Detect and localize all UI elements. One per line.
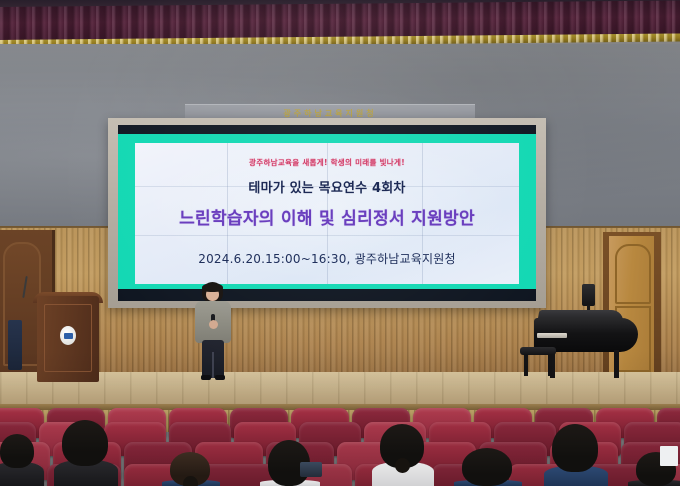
bench-leg-right xyxy=(548,354,552,376)
presenter-leg-gap xyxy=(212,352,214,378)
slide-title: 느린학습자의 이해 및 심리정서 지원방안 xyxy=(179,204,475,229)
slide-content: 광주하남교육을 새롭게! 학생의 미래를 빛나게! 테마가 있는 목요연수 4회… xyxy=(135,143,519,284)
piano-keyboard xyxy=(537,333,567,338)
screen-letterbox-bottom xyxy=(118,289,536,301)
presenter-shoe-left xyxy=(201,375,211,380)
audience-member-head xyxy=(0,434,34,468)
audience-member-head xyxy=(62,420,108,466)
presenter-hands xyxy=(209,320,218,329)
grand-piano xyxy=(528,300,658,380)
audience-member-head xyxy=(462,448,512,486)
audience-member-head xyxy=(552,424,598,472)
door-panel-upper xyxy=(615,244,651,304)
podium xyxy=(37,296,99,382)
screen-letterbox-top xyxy=(118,125,536,134)
piano-leg-rear xyxy=(614,350,619,378)
slide-border: 광주하남교육을 새롭게! 학생의 미래를 빛나게! 테마가 있는 목요연수 4회… xyxy=(118,134,536,289)
stage-chair xyxy=(8,320,22,370)
screen-display: 광주하남교육을 새롭게! 학생의 미래를 빛나게! 테마가 있는 목요연수 4회… xyxy=(118,125,536,301)
auditorium-photo: 광주하남교육지원청 광주하남교육을 새롭게! 학생의 미래를 빛나게! 테마가 … xyxy=(0,0,680,486)
slide-subtitle: 테마가 있는 목요연수 4회차 xyxy=(248,177,405,196)
presenter-fringe xyxy=(202,283,223,292)
audience-device xyxy=(300,462,322,477)
podium-emblem xyxy=(60,326,76,345)
projection-screen: 광주하남교육을 새롭게! 학생의 미래를 빛나게! 테마가 있는 목요연수 4회… xyxy=(108,118,546,308)
loudspeaker xyxy=(582,284,595,306)
audience-hair-bun xyxy=(183,476,198,486)
presenter-shoe-right xyxy=(215,375,225,380)
audience-hair-bun xyxy=(395,458,410,473)
bench-leg-left xyxy=(524,354,528,376)
slide-tagline: 광주하남교육을 새롭게! 학생의 미래를 빛나게! xyxy=(249,157,405,168)
handout-paper xyxy=(660,446,678,466)
presenter xyxy=(190,282,236,380)
slide-datetime-location: 2024.6.20.15:00~16:30, 광주하남교육지원청 xyxy=(198,250,456,267)
